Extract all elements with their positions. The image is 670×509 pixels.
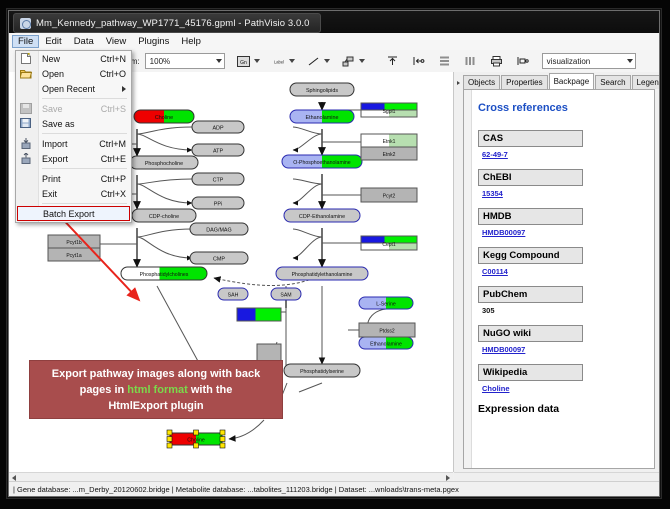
menu-file[interactable]: File xyxy=(12,35,39,48)
callout-text: Export pathway images along with back pa… xyxy=(46,366,266,414)
svg-text:Phosphatidylcholines: Phosphatidylcholines xyxy=(140,272,189,278)
node-ctp: CTP xyxy=(192,173,244,185)
menu-divider-2 xyxy=(42,133,127,134)
gene-chka xyxy=(237,308,281,321)
align-top-button[interactable] xyxy=(386,54,400,68)
menu-plugins[interactable]: Plugins xyxy=(132,35,175,48)
tab-search[interactable]: Search xyxy=(595,75,630,89)
svg-text:SAH: SAH xyxy=(228,293,239,299)
node-ethanolamine-2: Ethanolamine xyxy=(359,337,413,349)
xref-source-hmdb: HMDB xyxy=(478,208,583,225)
menu-divider-3 xyxy=(42,168,127,169)
node-dag-mag: DAG/MAG xyxy=(190,223,248,235)
xref-value-hmdb[interactable]: HMDB00097 xyxy=(482,228,655,237)
common-width-button[interactable] xyxy=(516,54,530,68)
svg-text:O-Phosphoethanolamine: O-Phosphoethanolamine xyxy=(293,160,351,166)
node-phosphatidylcholines: Phosphatidylcholines xyxy=(121,267,207,280)
menu-edit[interactable]: Edit xyxy=(39,35,67,48)
xref-value-nugo[interactable]: HMDB00097 xyxy=(482,345,655,354)
window-title: Mm_Kennedy_pathway_WP1771_45176.gpml - P… xyxy=(36,18,310,29)
xref-value-chebi[interactable]: 15354 xyxy=(482,189,655,198)
menu-bar[interactable]: File Edit Data View Plugins Help xyxy=(9,33,660,51)
xref-source-cas: CAS xyxy=(478,130,583,147)
export-icon xyxy=(20,153,32,164)
node-adp: ADP xyxy=(192,121,244,133)
svg-text:Ptdss2: Ptdss2 xyxy=(379,329,395,335)
svg-text:Etnk1: Etnk1 xyxy=(383,139,396,145)
svg-text:Pcyt2: Pcyt2 xyxy=(383,194,396,200)
svg-text:CTP: CTP xyxy=(213,178,224,184)
svg-text:Etnk2: Etnk2 xyxy=(383,152,396,158)
node-atp: ATP xyxy=(192,144,244,156)
shape-dropdown-arrow[interactable] xyxy=(359,59,365,63)
tab-properties[interactable]: Properties xyxy=(501,75,547,89)
pathvisio-window: Mm_Kennedy_pathway_WP1771_45176.gpml - P… xyxy=(8,10,660,497)
save-disk-icon xyxy=(20,103,32,114)
svg-text:Ethanolamine: Ethanolamine xyxy=(370,342,402,348)
menu-item-save-as-label: Save as xyxy=(42,119,75,129)
callout-line2-pre: pages in xyxy=(80,384,128,396)
title-bar: Mm_Kennedy_pathway_WP1771_45176.gpml - P… xyxy=(9,11,659,33)
new-document-icon xyxy=(20,53,32,64)
menu-item-save-label: Save xyxy=(42,104,63,114)
menu-divider-4 xyxy=(42,203,127,204)
zoom-value: 100% xyxy=(150,57,170,66)
align-left-button[interactable] xyxy=(412,54,426,68)
xref-source-nugo: NuGO wiki xyxy=(478,325,583,342)
node-sam: SAM xyxy=(271,288,301,300)
menu-item-save-accel: Ctrl+S xyxy=(101,104,126,114)
callout-line2-post: with the xyxy=(188,384,233,396)
chevron-down-icon xyxy=(627,59,633,63)
print-button[interactable] xyxy=(490,54,504,68)
xref-value-wikipedia[interactable]: Choline xyxy=(482,384,655,393)
callout-line2-highlight: html format xyxy=(127,384,188,396)
svg-text:PPi: PPi xyxy=(214,202,222,208)
node-sah: SAH xyxy=(218,288,248,300)
svg-text:CDP-Ethanolamine: CDP-Ethanolamine xyxy=(299,214,345,220)
xref-source-wikipedia: Wikipedia xyxy=(478,364,583,381)
zoom-combobox[interactable]: 100% xyxy=(145,53,225,69)
menu-item-save: Save Ctrl+S xyxy=(16,101,131,116)
chevron-down-icon xyxy=(216,59,222,63)
svg-text:Phosphocholine: Phosphocholine xyxy=(145,161,183,167)
node-phosphatidylethanolamine: Phosphatidylethanolamine xyxy=(276,267,368,280)
submenu-arrow-icon xyxy=(122,86,126,92)
node-cdp-ethanolamine: CDP-Ethanolamine xyxy=(284,209,360,222)
node-phosphatidylserine: Phosphatidylserine xyxy=(284,364,360,377)
tab-objects[interactable]: Objects xyxy=(463,75,500,89)
menu-item-open-recent-label: Open Recent xyxy=(42,84,95,94)
node-ethanolamine-1: Ethanolamine xyxy=(290,110,354,123)
menu-item-exit[interactable]: Exit Ctrl+X xyxy=(16,186,131,201)
svg-text:DAG/MAG: DAG/MAG xyxy=(206,228,231,234)
status-bar-text: | Gene database: ...m_Derby_20120602.bri… xyxy=(9,485,459,494)
node-sphingolipids: Sphingolipids xyxy=(290,83,354,96)
menu-item-exit-accel: Ctrl+X xyxy=(101,189,126,199)
menu-item-open-recent[interactable]: Open Recent xyxy=(16,81,131,96)
svg-text:Pcyt1a: Pcyt1a xyxy=(66,253,82,259)
save-as-icon xyxy=(20,118,32,129)
menu-item-print-label: Print xyxy=(42,174,61,184)
menu-item-open[interactable]: Open Ctrl+O xyxy=(16,66,131,81)
status-bar: | Gene database: ...m_Derby_20120602.bri… xyxy=(9,481,659,497)
label-dropdown-arrow[interactable] xyxy=(289,59,295,63)
stack-vertical-button[interactable] xyxy=(438,54,452,68)
gene-ptdss2: Ptdss2 xyxy=(359,323,415,337)
menu-item-batch-export-label: Batch Export xyxy=(43,209,95,219)
open-folder-icon xyxy=(20,68,32,79)
svg-text:Sphingolipids: Sphingolipids xyxy=(306,88,338,94)
menu-item-print[interactable]: Print Ctrl+P xyxy=(16,171,131,186)
shape-button[interactable] xyxy=(342,54,356,68)
svg-text:Label: Label xyxy=(274,59,284,64)
file-menu-dropdown[interactable]: New Ctrl+N Open Ctrl+O Open Recent Save … xyxy=(15,50,132,223)
datanode-dropdown-arrow[interactable] xyxy=(254,59,260,63)
menu-data[interactable]: Data xyxy=(68,35,100,48)
node-l-serine: L-Serine xyxy=(359,297,413,309)
line-dropdown-arrow[interactable] xyxy=(324,59,330,63)
backpage-document: Cross references CAS 62-49-7 ChEBI 15354… xyxy=(472,90,655,415)
backpage-scrollbar[interactable] xyxy=(464,90,472,468)
gene-cept1: Cept1 xyxy=(361,236,417,250)
cross-references-heading: Cross references xyxy=(478,102,655,114)
gene-pcyt1b: Pcyt1b xyxy=(48,235,100,248)
stack-horizontal-button[interactable] xyxy=(464,54,478,68)
node-choline-selected: Choline xyxy=(167,430,225,448)
svg-text:ATP: ATP xyxy=(213,149,223,155)
svg-text:L-Serine: L-Serine xyxy=(376,302,396,308)
menu-item-import-label: Import xyxy=(42,139,68,149)
menu-item-batch-export[interactable]: Batch Export xyxy=(17,206,130,221)
menu-item-import[interactable]: Import Ctrl+M xyxy=(16,136,131,151)
xref-value-cas[interactable]: 62-49-7 xyxy=(482,150,655,159)
import-icon xyxy=(20,138,32,149)
menu-item-new-accel: Ctrl+N xyxy=(100,54,126,64)
tab-legend[interactable]: Legend xyxy=(632,75,660,89)
svg-text:CDP-choline: CDP-choline xyxy=(149,214,179,220)
node-phosphocholine: Phosphocholine xyxy=(130,156,198,169)
xref-source-kegg: Kegg Compound xyxy=(478,247,583,264)
callout-line3: HtmlExport plugin xyxy=(108,400,203,412)
menu-item-print-accel: Ctrl+P xyxy=(101,174,126,184)
menu-item-import-accel: Ctrl+M xyxy=(99,139,126,149)
line-button[interactable] xyxy=(307,54,321,68)
tab-backpage[interactable]: Backpage xyxy=(549,73,595,89)
menu-item-save-as[interactable]: Save as xyxy=(16,116,131,131)
xref-value-pubchem: 305 xyxy=(482,306,655,315)
menu-item-open-accel: Ctrl+O xyxy=(100,69,126,79)
node-ophosphoethanolamine: O-Phosphoethanolamine xyxy=(282,155,362,168)
menu-item-open-label: Open xyxy=(42,69,64,79)
svg-text:Sgpl1: Sgpl1 xyxy=(383,109,396,115)
svg-text:Phosphatidylethanolamine: Phosphatidylethanolamine xyxy=(292,272,353,278)
expression-data-heading: Expression data xyxy=(478,403,655,415)
svg-text:CMP: CMP xyxy=(213,257,225,263)
node-choline: Choline xyxy=(134,110,194,123)
panel-collapse-handle[interactable] xyxy=(456,75,461,85)
menu-item-exit-label: Exit xyxy=(42,189,57,199)
svg-text:ADP: ADP xyxy=(212,126,223,132)
pathvisio-icon xyxy=(20,18,31,29)
svg-text:Choline: Choline xyxy=(187,438,205,444)
gene-etnk2: Etnk2 xyxy=(361,147,417,160)
gene-sgpl1: Sgpl1 xyxy=(361,103,417,117)
side-panel: Objects Properties Backpage Search Legen… xyxy=(454,72,659,472)
xref-source-chebi: ChEBI xyxy=(478,169,583,186)
xref-source-pubchem: PubChem xyxy=(478,286,583,303)
xref-value-kegg[interactable]: C00114 xyxy=(482,267,655,276)
screen-background: Mm_Kennedy_pathway_WP1771_45176.gpml - P… xyxy=(0,0,670,509)
callout-line1: Export pathway images along with back xyxy=(52,368,260,380)
annotation-callout: Export pathway images along with back pa… xyxy=(29,360,283,419)
svg-text:Gn: Gn xyxy=(240,59,247,65)
menu-item-export[interactable]: Export Ctrl+E xyxy=(16,151,131,166)
menu-help[interactable]: Help xyxy=(175,35,207,48)
node-cdp-choline: CDP-choline xyxy=(132,209,196,222)
menu-item-export-accel: Ctrl+E xyxy=(101,154,126,164)
svg-text:Ethanolamine: Ethanolamine xyxy=(306,115,339,121)
svg-text:Cept1: Cept1 xyxy=(382,242,396,248)
label-button[interactable]: Label xyxy=(272,54,286,68)
backpage-content: Cross references CAS 62-49-7 ChEBI 15354… xyxy=(463,89,655,469)
visualization-combobox[interactable]: visualization xyxy=(542,53,636,69)
svg-text:SAM: SAM xyxy=(280,293,291,299)
gene-pcyt1a: Pcyt1a xyxy=(48,248,100,261)
menu-item-export-label: Export xyxy=(42,154,68,164)
menu-view[interactable]: View xyxy=(100,35,132,48)
gene-pcyt2: Pcyt2 xyxy=(361,188,417,202)
visualization-value: visualization xyxy=(547,57,591,66)
window-title-pill: Mm_Kennedy_pathway_WP1771_45176.gpml - P… xyxy=(13,13,321,33)
menu-item-new-label: New xyxy=(42,54,60,64)
menu-item-new[interactable]: New Ctrl+N xyxy=(16,51,131,66)
datanode-button[interactable]: Gn xyxy=(237,54,251,68)
gene-etnk1: Etnk1 xyxy=(361,134,417,147)
node-cmp: CMP xyxy=(190,252,248,264)
svg-text:Choline: Choline xyxy=(155,115,173,121)
node-ppi: PPi xyxy=(192,197,244,209)
svg-text:Pcyt1b: Pcyt1b xyxy=(66,240,82,246)
panel-tab-strip[interactable]: Objects Properties Backpage Search Legen… xyxy=(463,74,660,89)
menu-divider-1 xyxy=(42,98,127,99)
svg-text:Phosphatidylserine: Phosphatidylserine xyxy=(300,369,344,375)
